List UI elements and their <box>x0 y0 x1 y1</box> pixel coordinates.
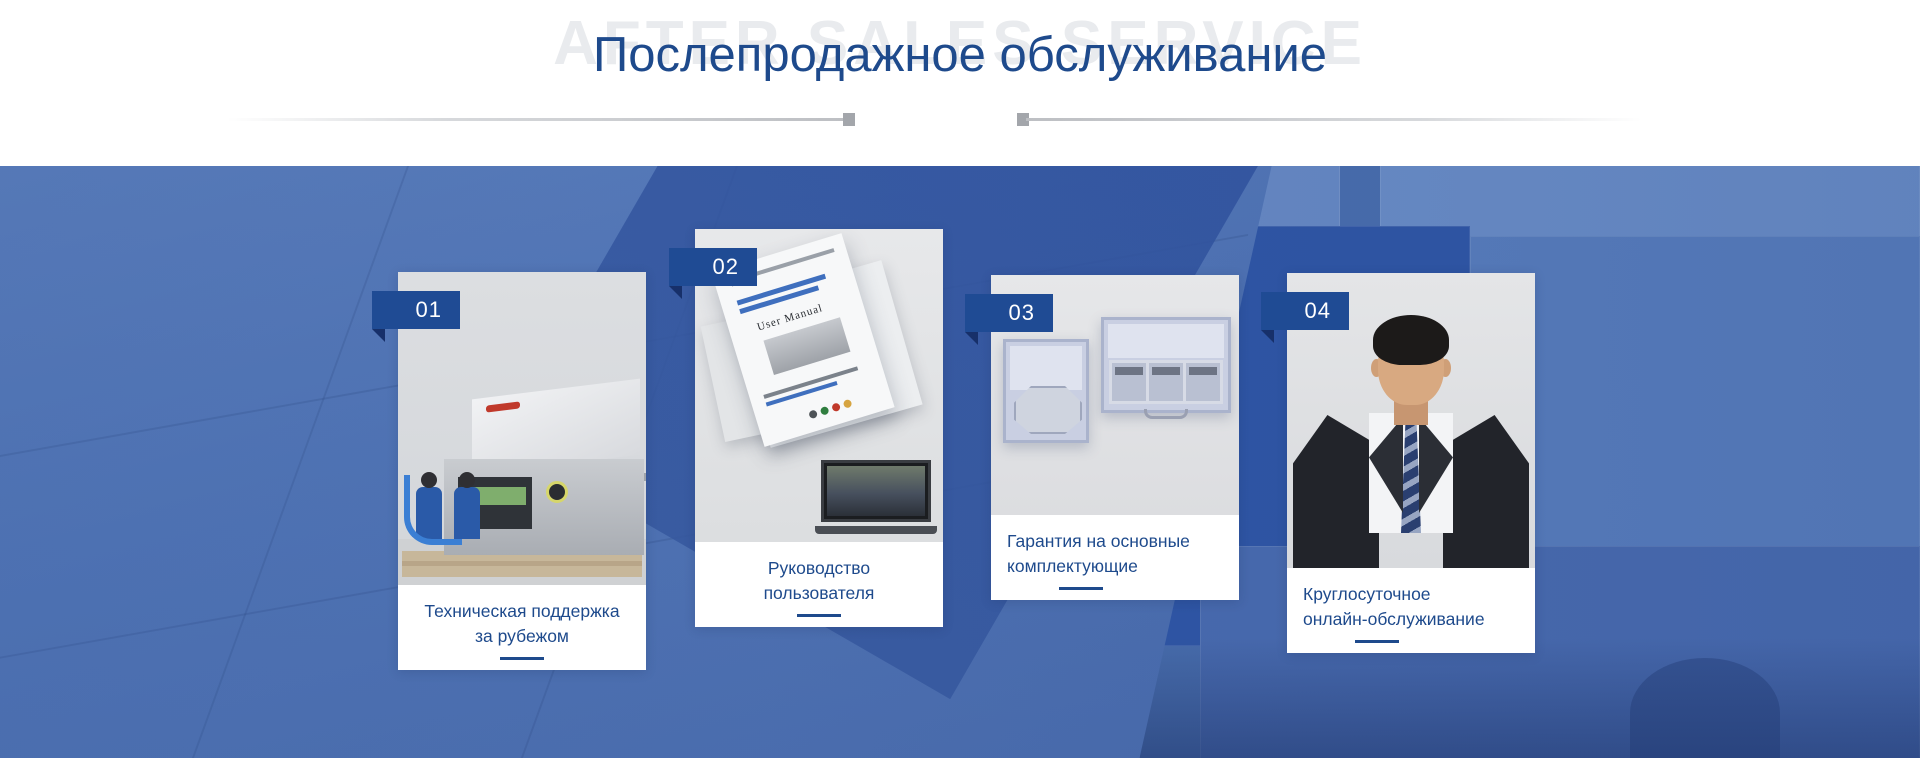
service-card[interactable]: 03 <box>991 275 1239 600</box>
cutting-disc <box>1014 386 1082 434</box>
card-number-label: 03 <box>1009 300 1035 325</box>
card-number-label: 04 <box>1305 298 1331 323</box>
parts-tray <box>1109 360 1223 404</box>
service-card[interactable]: 04 <box>1287 273 1535 653</box>
cert-icon <box>808 409 818 419</box>
card-number-badge: 04 <box>1261 292 1349 330</box>
card-caption-underline <box>500 657 544 660</box>
section-header: AFTER SALES SERVICE Послепродажное обслу… <box>0 0 1920 166</box>
tool-case-open-right <box>1101 317 1231 413</box>
manual-cert-icons <box>807 390 865 416</box>
case-lid <box>1108 324 1224 358</box>
tray-slot <box>1186 363 1220 401</box>
card-number-badge: 03 <box>965 294 1053 332</box>
laptop-device <box>815 460 937 534</box>
card-caption-underline <box>797 614 841 617</box>
service-card[interactable]: 02 User Manual <box>695 229 943 627</box>
card-caption-underline <box>1355 640 1399 643</box>
red-handle <box>486 401 520 412</box>
card-number-badge: 02 <box>669 248 757 286</box>
card-caption: Руководство пользователя <box>695 542 943 627</box>
suit-jacket-left <box>1293 415 1379 568</box>
divider-rule-right <box>1026 118 1642 121</box>
divider-marker-left <box>843 113 855 126</box>
card-caption-text: Круглосуточное онлайн-обслуживание <box>1303 582 1519 633</box>
laptop-screen <box>821 460 931 522</box>
case-handle <box>1144 409 1188 419</box>
card-caption: Гарантия на основные комплектующие <box>991 515 1239 600</box>
laptop-screen-content <box>827 466 925 516</box>
badge-fold <box>965 332 978 345</box>
cert-icon <box>820 406 830 416</box>
card-caption: Техническая поддержка за рубежом <box>398 585 646 670</box>
badge-fold <box>669 286 682 299</box>
suit-jacket-right <box>1443 415 1529 568</box>
laptop-base <box>815 526 937 534</box>
after-sales-service-section: AFTER SALES SERVICE Послепродажное обслу… <box>0 0 1920 758</box>
tool-case-open-left <box>1003 339 1089 443</box>
title-divider <box>227 113 1642 125</box>
card-caption-text: Техническая поддержка за рубежом <box>414 599 630 650</box>
card-number-badge: 01 <box>372 291 460 329</box>
badge-fold <box>1261 330 1274 343</box>
card-caption-text: Руководство пользователя <box>711 556 927 607</box>
service-card-list: 01 <box>0 166 1920 758</box>
hair <box>1373 315 1449 365</box>
cert-icon <box>843 399 853 409</box>
card-caption-underline <box>1059 587 1103 590</box>
cert-icon <box>831 402 841 412</box>
case-lid <box>1010 346 1082 390</box>
machine-knob <box>546 481 568 503</box>
card-number-label: 02 <box>713 254 739 279</box>
card-caption: Круглосуточное онлайн-обслуживание <box>1287 568 1535 653</box>
manual-header-rule <box>753 248 834 276</box>
page-title: Послепродажное обслуживание <box>0 27 1920 83</box>
divider-rule-left <box>227 118 843 121</box>
card-number-label: 01 <box>416 297 442 322</box>
card-caption-text: Гарантия на основные комплектующие <box>1007 529 1223 580</box>
content-area: 01 <box>0 166 1920 758</box>
badge-fold <box>372 329 385 342</box>
tray-slot <box>1149 363 1183 401</box>
service-card[interactable]: 01 <box>398 272 646 670</box>
tray-slot <box>1112 363 1146 401</box>
blue-hose <box>404 475 462 545</box>
